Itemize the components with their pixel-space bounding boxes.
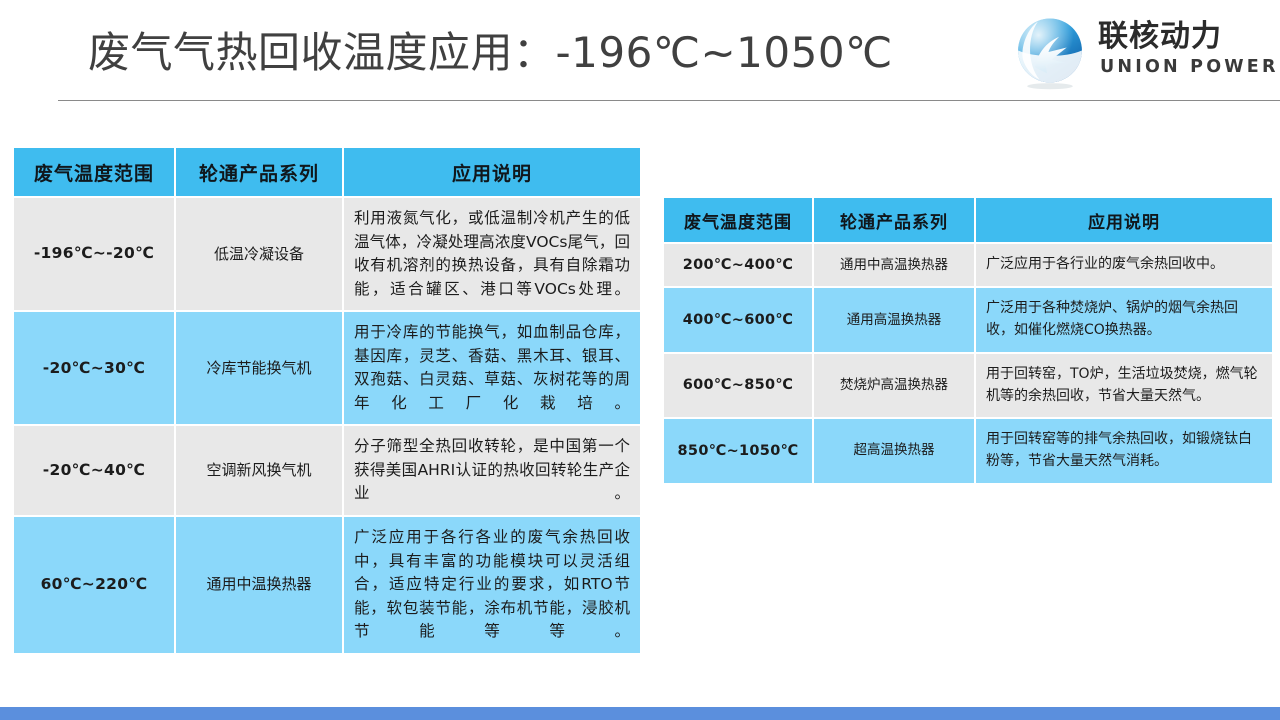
table-row: 600℃~850℃ 焚烧炉高温换热器 用于回转窑，TO炉，生活垃圾焚烧，燃气轮机… [664,354,1272,417]
cell-desc: 广泛应用于各行各业的废气余热回收中，具有丰富的功能模块可以灵活组合，适应特定行业… [344,517,640,653]
cell-series: 超高温换热器 [814,419,974,482]
cell-series: 通用高温换热器 [814,288,974,351]
cell-series: 低温冷凝设备 [176,198,342,310]
table-header-row: 废气温度范围 轮通产品系列 应用说明 [664,198,1272,242]
cell-series: 通用中高温换热器 [814,244,974,286]
cell-range: -20℃~30℃ [14,312,174,424]
table-row: -20℃~30℃ 冷库节能换气机 用于冷库的节能换气，如血制品仓库，基因库，灵芝… [14,312,640,424]
cell-series: 通用中温换热器 [176,517,342,653]
cell-desc: 用于冷库的节能换气，如血制品仓库，基因库，灵芝、香菇、黑木耳、银耳、双孢菇、白灵… [344,312,640,424]
table-row: -20℃~40℃ 空调新风换气机 分子筛型全热回收转轮，是中国第一个获得美国AH… [14,426,640,515]
table-row: 850℃~1050℃ 超高温换热器 用于回转窑等的排气余热回收，如锻烧钛白粉等，… [664,419,1272,482]
page-title: 废气气热回收温度应用：-196℃~1050℃ [88,28,893,78]
cell-range: 400℃~600℃ [664,288,812,351]
table-row: 400℃~600℃ 通用高温换热器 广泛用于各种焚烧炉、锅炉的烟气余热回收，如催… [664,288,1272,351]
column-header-desc: 应用说明 [344,148,640,196]
cell-series: 空调新风换气机 [176,426,342,515]
cell-desc: 广泛用于各种焚烧炉、锅炉的烟气余热回收，如催化燃烧CO换热器。 [976,288,1272,351]
cell-series: 冷库节能换气机 [176,312,342,424]
column-header-series: 轮通产品系列 [176,148,342,196]
union-power-globe-arrow-icon [1012,14,1088,90]
cell-range: 60℃~220℃ [14,517,174,653]
cell-desc: 用于回转窑等的排气余热回收，如锻烧钛白粉等，节省大量天然气消耗。 [976,419,1272,482]
logo-name-cn: 联核动力 [1098,22,1222,52]
temperature-application-table-left: 废气温度范围 轮通产品系列 应用说明 -196℃~-20℃ 低温冷凝设备 利用液… [12,146,642,655]
table-row: 200℃~400℃ 通用中高温换热器 广泛应用于各行业的废气余热回收中。 [664,244,1272,286]
cell-range: -196℃~-20℃ [14,198,174,310]
cell-desc: 分子筛型全热回收转轮，是中国第一个获得美国AHRI认证的热收回转轮生产企业。 [344,426,640,515]
title-divider [58,100,1280,101]
table-row: 60℃~220℃ 通用中温换热器 广泛应用于各行各业的废气余热回收中，具有丰富的… [14,517,640,653]
table-header-row: 废气温度范围 轮通产品系列 应用说明 [14,148,640,196]
cell-range: -20℃~40℃ [14,426,174,515]
cell-series: 焚烧炉高温换热器 [814,354,974,417]
cell-desc: 用于回转窑，TO炉，生活垃圾焚烧，燃气轮机等的余热回收，节省大量天然气。 [976,354,1272,417]
column-header-series: 轮通产品系列 [814,198,974,242]
cell-range: 200℃~400℃ [664,244,812,286]
column-header-range: 废气温度范围 [14,148,174,196]
column-header-desc: 应用说明 [976,198,1272,242]
table-row: -196℃~-20℃ 低温冷凝设备 利用液氮气化，或低温制冷机产生的低温气体，冷… [14,198,640,310]
cell-desc: 利用液氮气化，或低温制冷机产生的低温气体，冷凝处理高浓度VOCs尾气，回收有机溶… [344,198,640,310]
cell-range: 600℃~850℃ [664,354,812,417]
column-header-range: 废气温度范围 [664,198,812,242]
company-logo: 联核动力 UNION POWER [1012,12,1280,92]
temperature-application-table-right: 废气温度范围 轮通产品系列 应用说明 200℃~400℃ 通用中高温换热器 广泛… [662,196,1274,485]
cell-desc: 广泛应用于各行业的废气余热回收中。 [976,244,1272,286]
logo-name-en: UNION POWER [1100,59,1279,77]
cell-range: 850℃~1050℃ [664,419,812,482]
footer-accent-bar [0,707,1280,720]
